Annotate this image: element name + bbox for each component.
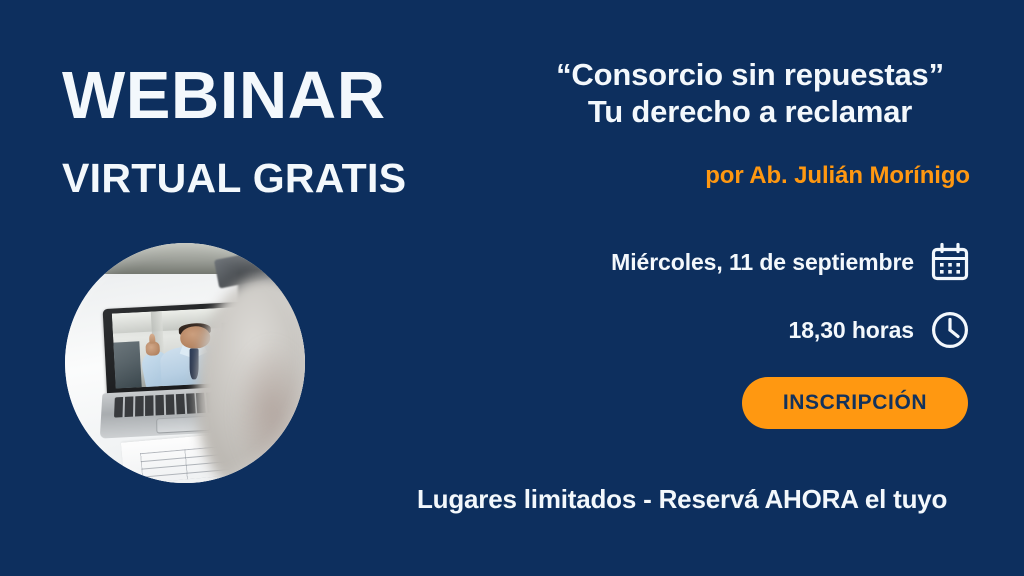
date-row: Miércoles, 11 de septiembre (611, 242, 970, 282)
photo-scene (65, 243, 305, 483)
clock-icon (930, 310, 970, 350)
inscription-button[interactable]: INSCRIPCIÓN (742, 377, 968, 429)
left-headline-block: WEBINAR VIRTUAL GRATIS (62, 62, 492, 199)
limited-seats-note: Lugares limitados - Reservá AHORA el tuy… (417, 484, 947, 515)
speaker-credit: por Ab. Julián Morínigo (524, 162, 970, 190)
date-label: Miércoles, 11 de septiembre (611, 249, 914, 276)
webinar-subtitle: VIRTUAL GRATIS (62, 158, 492, 199)
topic-headline-line1: “Consorcio sin repuestas” (524, 57, 976, 94)
topic-headline-block: “Consorcio sin repuestas” Tu derecho a r… (524, 57, 976, 130)
time-label: 18,30 horas (789, 317, 914, 344)
time-row: 18,30 horas (789, 310, 970, 350)
calendar-icon (930, 242, 970, 282)
webinar-photo (65, 243, 305, 483)
webinar-poster: WEBINAR VIRTUAL GRATIS (0, 0, 1024, 576)
topic-headline-line2: Tu derecho a reclamar (524, 94, 976, 131)
foreground-head-shading (233, 339, 305, 483)
webinar-title: WEBINAR (62, 62, 492, 129)
